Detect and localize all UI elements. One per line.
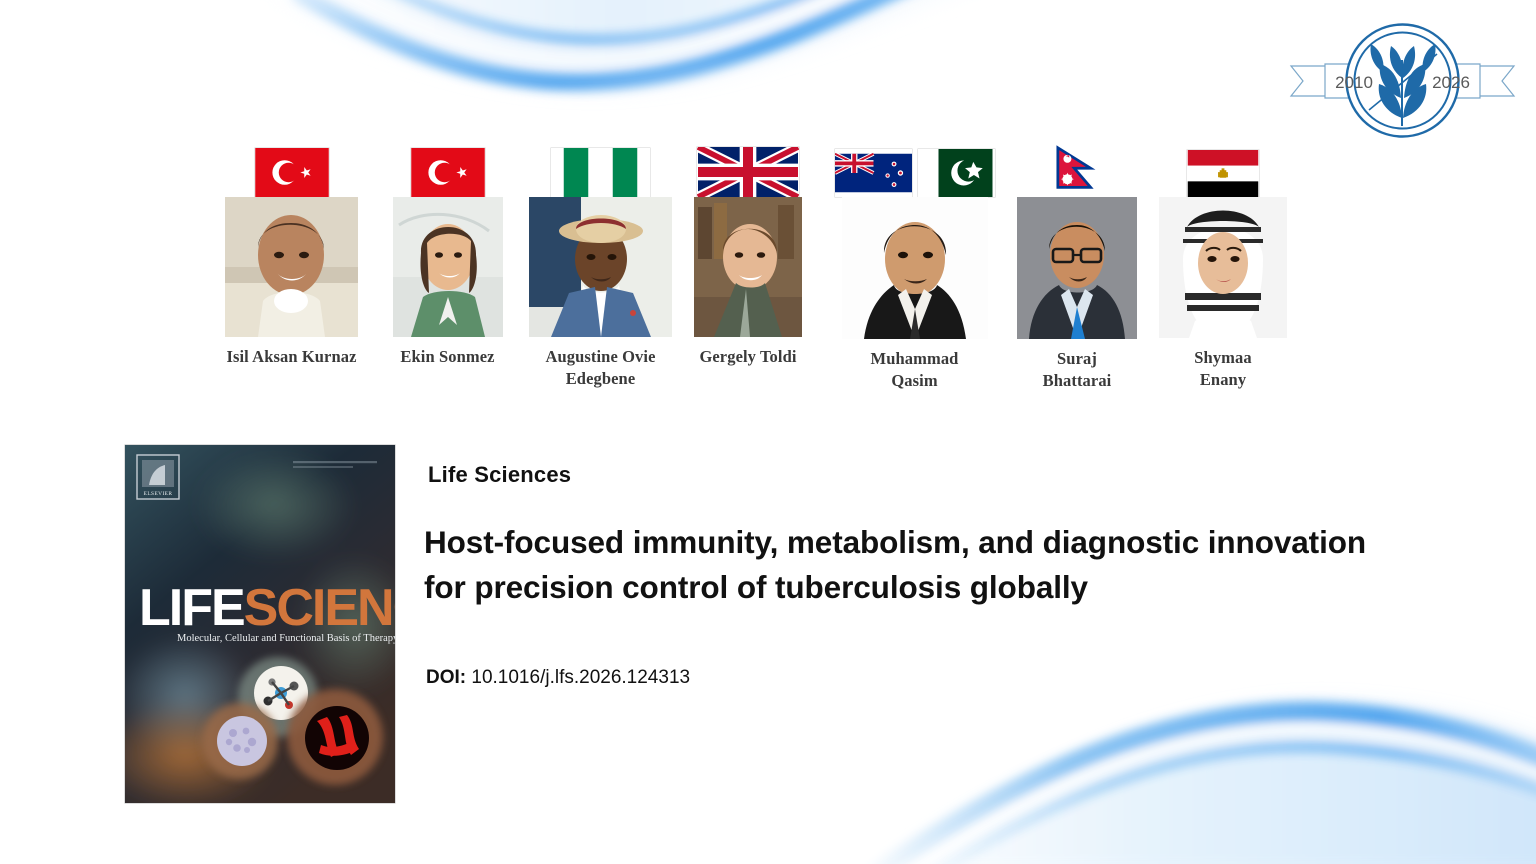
author-photo [1017,197,1137,339]
author-name-line1: Muhammad [871,349,959,368]
author-card: Augustine Ovie Edegbene [528,145,673,391]
flag-turkey [255,148,329,197]
flag-group [697,145,799,197]
flag-united-kingdom [697,147,799,197]
author-name-line2: Bhattarai [1043,371,1112,390]
author-card: Ekin Sonmez [380,145,515,368]
author-name: Augustine Ovie Edegbene [545,346,655,391]
author-name-line2: Edegbene [566,369,636,388]
author-card: Shymaa Enany [1158,145,1288,392]
author-card: Suraj Bhattarai [1012,145,1142,393]
logo-year-end: 2026 [1432,73,1470,92]
author-name-line2: Enany [1200,370,1246,389]
author-name: Isil Aksan Kurnaz [226,346,356,368]
author-name: Muhammad Qasim [871,348,959,393]
author-name-line1: Shymaa [1194,348,1251,367]
flag-nepal [1049,145,1105,197]
journal-title: Life Sciences [428,462,571,488]
author-photo [393,197,503,337]
flag-nigeria [551,148,650,197]
elsevier-wordmark: ELSEVIER [144,491,173,497]
flag-group [255,145,329,197]
flag-group [1049,145,1105,197]
author-photo [694,197,802,337]
author-photo [225,197,358,337]
author-name-line2: Qasim [891,371,937,390]
doi-label: DOI: [426,667,466,688]
anniversary-logo: 2010 2026 [1285,18,1520,143]
author-card: Muhammad Qasim [822,145,1007,393]
doi-value[interactable]: 10.1016/j.lfs.2026.124313 [471,667,690,688]
author-name: Suraj Bhattarai [1043,348,1112,393]
flag-group [835,145,995,197]
author-photo [842,197,988,339]
flag-group [1187,145,1259,197]
flag-turkey [411,148,485,197]
author-name-line1: Suraj [1057,349,1097,368]
author-name: Gergely Toldi [699,346,796,368]
cover-masthead: LIFESCIENCES [139,579,395,637]
doi-row: DOI: 10.1016/j.lfs.2026.124313 [426,667,690,689]
author-name: Ekin Sonmez [400,346,494,368]
author-name: Shymaa Enany [1194,347,1251,392]
author-card: Gergely Toldi [683,145,813,368]
journal-cover-image: ELSEVIER LIFESCIENCES Molecular, Cellula… [125,445,395,803]
slide-canvas: 2010 2026 [0,0,1536,864]
cover-tagline: Molecular, Cellular and Functional Basis… [177,633,395,644]
flag-new-zealand [835,149,912,197]
author-name-line1: Augustine Ovie [545,347,655,366]
masthead-sciences: SCIENCES [244,579,395,637]
flag-egypt [1187,150,1259,197]
flag-group [411,145,485,197]
logo-year-start: 2010 [1335,73,1373,92]
authors-strip: Isil Aksan Kurnaz [190,145,1320,415]
author-photo [1159,197,1287,338]
article-title: Host-focused immunity, metabolism, and d… [424,520,1384,609]
masthead-life: LIFE [139,579,244,637]
author-card: Isil Aksan Kurnaz [224,145,359,368]
author-photo [529,197,672,337]
flag-group [551,145,650,197]
flag-pakistan [918,149,995,197]
